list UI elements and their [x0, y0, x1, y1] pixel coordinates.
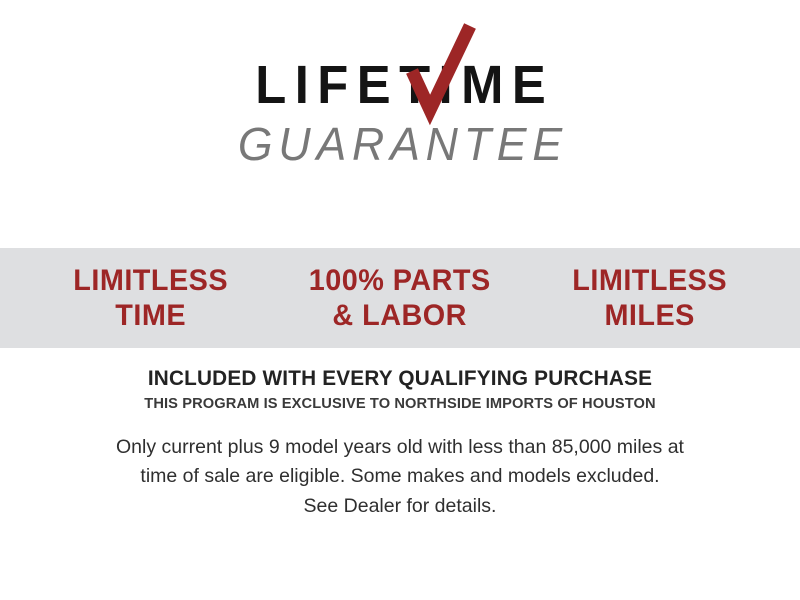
- fineprint-line-2: time of sale are eligible. Some makes an…: [40, 462, 760, 492]
- fineprint-line-1: Only current plus 9 model years old with…: [40, 433, 760, 463]
- logo-word-guarantee: GUARANTEE: [12, 121, 788, 167]
- fineprint-line-3: See Dealer for details.: [40, 492, 760, 522]
- feature-line-1: 100% PARTS: [309, 264, 491, 297]
- feature-line-2: MILES: [530, 298, 769, 333]
- feature-column-limitless-time: LIMITLESS TIME: [31, 263, 270, 333]
- lifetime-guarantee-poster: LIFETIME GUARANTEE LIMITLESS TIME 100% P…: [0, 0, 800, 600]
- fineprint-disclaimer: Only current plus 9 model years old with…: [40, 433, 760, 522]
- logo-word-lifetime: LIFETIME: [246, 58, 553, 112]
- feature-line-1: LIMITLESS: [73, 264, 228, 297]
- lower-text-block: INCLUDED WITH EVERY QUALIFYING PURCHASE …: [0, 366, 800, 521]
- feature-line-1: LIMITLESS: [572, 264, 727, 297]
- subheadline-exclusive-dealer: THIS PROGRAM IS EXCLUSIVE TO NORTHSIDE I…: [14, 395, 786, 412]
- feature-line-2: TIME: [31, 298, 270, 333]
- feature-band: LIMITLESS TIME 100% PARTS & LABOR LIMITL…: [0, 248, 800, 348]
- logo-lifetime-wrap: LIFETIME: [237, 58, 564, 112]
- headline-included-with-purchase: INCLUDED WITH EVERY QUALIFYING PURCHASE: [14, 366, 786, 390]
- feature-line-2: & LABOR: [280, 298, 519, 333]
- feature-column-parts-labor: 100% PARTS & LABOR: [280, 263, 519, 333]
- feature-column-limitless-miles: LIMITLESS MILES: [530, 263, 769, 333]
- logo-block: LIFETIME GUARANTEE: [0, 58, 800, 167]
